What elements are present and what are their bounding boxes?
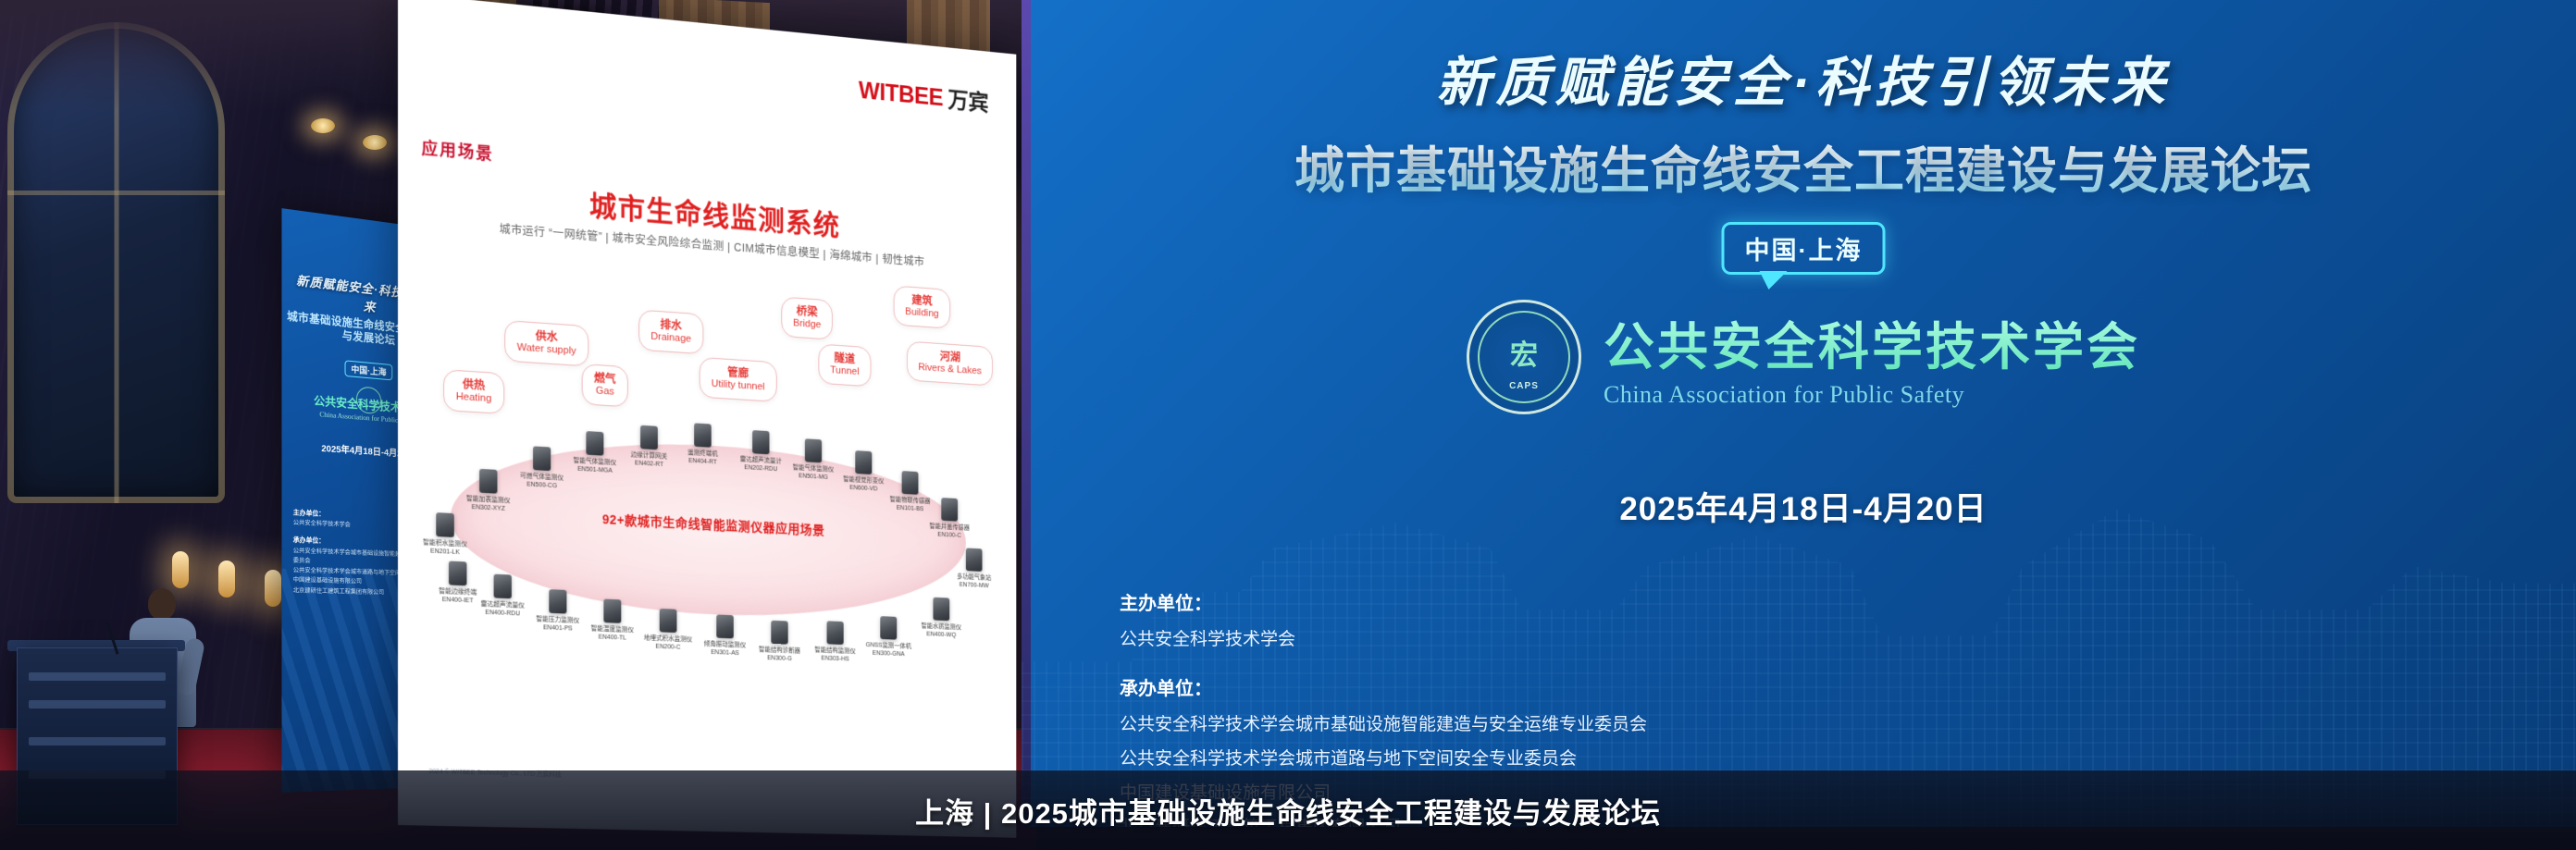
category-label-en: Drainage [650,331,691,346]
device-icon [586,431,603,456]
presenter-head [148,588,176,620]
left-cohost-3: 北京建研住工建筑工程集团有限公司 [293,587,384,596]
category-bubble[interactable]: 供热Heating [443,369,504,414]
led-panel-right: 新质赋能安全·科技引领未来 城市基础设施生命线安全工程建设与发展论坛 中国·上海… [1022,0,2576,827]
device-icon [494,574,512,599]
right-host-label: 主办单位： [1120,586,1647,622]
wall-sconce [172,551,189,588]
category-bubble[interactable]: 建筑Building [894,285,950,328]
right-association-row: 宏 CAPS 公共安全科学技术学会 China Association for … [1022,300,2576,414]
category-label-en: Tunnel [830,364,859,378]
device-icon [640,425,658,450]
left-cohost-2: 中国建设基础设施有限公司 [293,577,362,585]
category-label-en: Gas [594,385,616,399]
device-icon [941,498,958,522]
device-icon [805,438,822,462]
right-association-en: China Association for Public Safety [1604,381,2140,409]
device-icon [479,469,497,494]
slide-corner-tag: 应用场景 [422,135,494,166]
device-item[interactable]: 智能边缘终端EN400-IET [420,560,496,607]
device-icon [933,597,949,621]
device-icon [716,614,734,638]
witbee-logo: WITBEE 万宾 [859,74,989,118]
right-cohost-label: 承办单位： [1120,671,1647,708]
right-association-cn: 公共安全科学技术学会 [1604,305,2140,379]
category-label-cn: 燃气 [594,372,616,387]
category-bubble[interactable]: 管廊Utility tunnel [700,357,777,402]
device-icon [533,446,551,471]
category-label-en: Water supply [517,342,576,359]
device-icon [549,589,566,613]
wall-sconce [218,561,235,597]
device-icon [771,621,787,645]
category-bubble[interactable]: 隧道Tunnel [818,343,871,387]
category-bubble[interactable]: 桥梁Bridge [781,297,833,340]
device-icon [902,471,919,495]
category-bubble[interactable]: 燃气Gas [582,363,628,407]
device-model: EN400-RDU [465,608,540,620]
right-location-badge: 中国·上海 [1722,222,1886,275]
spotlight [363,135,387,150]
device-icon [827,621,844,645]
spotlight [311,118,335,133]
presentation-slide: WITBEE 万宾 应用场景 城市生命线监测系统 城市运行 “一网统管” | 城… [398,0,1016,838]
category-label-en: Building [905,306,938,321]
right-host-value: 公共安全科学技术学会 [1120,622,1647,657]
category-bubble[interactable]: 供水Water supply [504,320,588,366]
device-icon [660,609,677,633]
caption-bar: 上海 | 2025城市基础设施生命线安全工程建设与发展论坛 [0,770,2576,850]
right-date: 2025年4月18日-4月20日 [1022,483,2576,530]
right-forum-title: 城市基础设施生命线安全工程建设与发展论坛 [1022,129,2576,203]
right-calligraphy-title: 新质赋能安全·科技引领未来 [1022,39,2576,117]
witbee-wordmark: WITBEE [859,76,943,111]
category-label-en: Utility tunnel [712,378,765,394]
device-icon [603,599,621,623]
device-model: EN401-PS [521,623,595,634]
device-icon [752,430,769,454]
right-association-text: 公共安全科学技术学会 China Association for Public … [1604,305,2140,409]
wall-sconce [265,570,281,607]
category-bubble[interactable]: 排水Drainage [638,310,703,354]
screenshot-root: 新质赋能安全·科技引领未来 城市基础设施生命线安全工程建设与发展论坛 中国·上海… [0,0,2576,850]
caption-text: 上海 | 2025城市基础设施生命线安全工程建设与发展论坛 [915,790,1661,832]
device-item[interactable]: 多功能气象站EN700-MW [940,547,1009,592]
category-label-en: Heating [456,391,492,406]
category-label-en: Bridge [793,318,821,332]
caps-seal-icon: 宏 CAPS [1467,300,1581,414]
category-bubble[interactable]: 河湖Rivers & Lakes [907,341,993,387]
left-location-badge: 中国·上海 [345,360,393,380]
device-icon [880,616,897,640]
witbee-wordmark-cn: 万宾 [947,82,988,117]
left-host-value: 公共安全科学技术学会 [293,520,351,529]
device-icon [855,450,872,474]
device-icon [966,548,983,571]
device-icon [694,423,712,447]
device-icon [449,561,467,586]
right-cohost-0: 公共安全科学技术学会城市基础设施智能建造与安全运维专业委员会 [1120,708,1647,742]
